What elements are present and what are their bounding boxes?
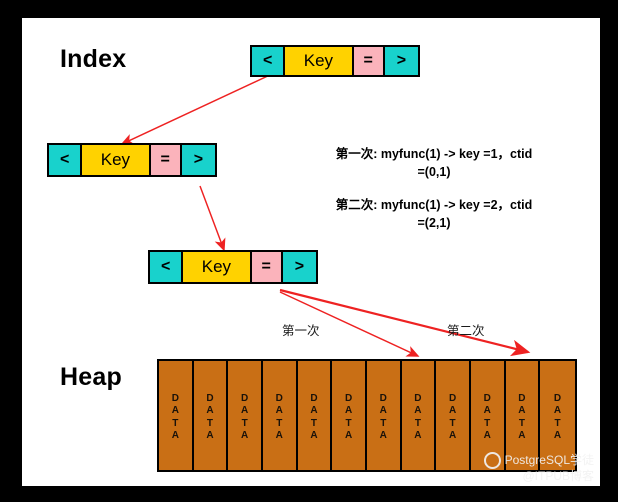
index-section-title: Index — [60, 45, 126, 74]
heap-cell-char: A — [310, 406, 317, 417]
pass-label-second: 第二次 — [447, 320, 485, 339]
heap-cell-char: A — [206, 406, 213, 417]
diagram-canvas: Index Heap < Key = > < Key = > < Key = >… — [22, 18, 600, 486]
heap-cell[interactable]: DATA — [436, 361, 471, 470]
heap-cell[interactable]: DATA — [367, 361, 402, 470]
watermark-line2: @ITPUB博客 — [484, 469, 594, 484]
heap-cell-char: D — [276, 394, 283, 405]
heap-section-title: Heap — [60, 363, 122, 392]
annotation-first-pass: 第一次: myfunc(1) -> key =1，ctid =(0,1) — [314, 145, 554, 181]
heap-cell-char: D — [380, 394, 387, 405]
heap-cell-char: T — [346, 419, 352, 430]
heap-cell-char: D — [345, 394, 352, 405]
watermark-line1: PostgreSQL学徒 — [505, 453, 594, 468]
root-node-cell-gt[interactable]: > — [385, 47, 418, 75]
leaf-node-cell-gt[interactable]: > — [283, 252, 316, 282]
annotation-second-pass: 第二次: myfunc(1) -> key =2，ctid =(2,1) — [314, 196, 554, 232]
heap-cell-char: T — [519, 419, 525, 430]
root-node-cell-eq[interactable]: = — [354, 47, 385, 75]
watermark-avatar-icon — [484, 452, 501, 469]
leaf-node-cell-key[interactable]: Key — [183, 252, 251, 282]
heap-cell-char: T — [276, 419, 282, 430]
heap-cell-char: A — [449, 431, 456, 442]
middle-node-cell-key[interactable]: Key — [82, 145, 150, 175]
heap-cell[interactable]: DATA — [228, 361, 263, 470]
middle-node-cell-gt[interactable]: > — [182, 145, 215, 175]
heap-cell-char: T — [172, 419, 178, 430]
heap-cell-char: A — [380, 431, 387, 442]
annotation-second-pass-line2: =(2,1) — [314, 214, 554, 232]
middle-node[interactable]: < Key = > — [47, 143, 217, 177]
heap-cell-char: A — [484, 431, 491, 442]
watermark: PostgreSQL学徒 @ITPUB博客 — [484, 452, 594, 484]
heap-cell-char: A — [276, 406, 283, 417]
heap-cell[interactable]: DATA — [194, 361, 229, 470]
heap-cell-char: A — [345, 431, 352, 442]
heap-cell-char: D — [206, 394, 213, 405]
heap-cell-char: T — [554, 419, 560, 430]
heap-cell-char: T — [380, 419, 386, 430]
middle-node-cell-eq[interactable]: = — [151, 145, 182, 175]
root-node-cell-lt[interactable]: < — [252, 47, 285, 75]
heap-cell-char: A — [276, 431, 283, 442]
heap-cell-char: T — [311, 419, 317, 430]
heap-cell-char: A — [172, 406, 179, 417]
annotation-first-pass-line2: =(0,1) — [314, 163, 554, 181]
heap-cell-char: T — [242, 419, 248, 430]
heap-cell-char: D — [241, 394, 248, 405]
heap-cell[interactable]: DATA — [402, 361, 437, 470]
heap-cell-char: A — [310, 431, 317, 442]
annotation-second-pass-line1: 第二次: myfunc(1) -> key =2，ctid — [314, 196, 554, 214]
heap-cell-char: T — [450, 419, 456, 430]
heap-cell-char: D — [484, 394, 491, 405]
screenshot-root: Index Heap < Key = > < Key = > < Key = >… — [0, 0, 618, 502]
heap-cell-char: A — [518, 431, 525, 442]
heap-cell-char: A — [241, 431, 248, 442]
root-node-cell-key[interactable]: Key — [285, 47, 353, 75]
heap-cell-char: D — [414, 394, 421, 405]
heap-cell-char: A — [449, 406, 456, 417]
heap-cell-char: A — [241, 406, 248, 417]
arrow-middle-to-leaf — [200, 186, 224, 250]
heap-cell-char: A — [345, 406, 352, 417]
heap-cell[interactable]: DATA — [332, 361, 367, 470]
heap-cell[interactable]: DATA — [159, 361, 194, 470]
pass-label-first: 第一次 — [282, 320, 320, 339]
heap-cell-char: A — [554, 406, 561, 417]
leaf-node-cell-lt[interactable]: < — [150, 252, 183, 282]
heap-cell-char: D — [310, 394, 317, 405]
heap-cell-char: A — [172, 431, 179, 442]
heap-cell-char: T — [415, 419, 421, 430]
heap-cell[interactable]: DATA — [298, 361, 333, 470]
heap-cell-char: A — [518, 406, 525, 417]
leaf-node-cell-eq[interactable]: = — [252, 252, 283, 282]
heap-cell[interactable]: DATA — [263, 361, 298, 470]
heap-cell-char: T — [484, 419, 490, 430]
heap-cell-char: A — [206, 431, 213, 442]
heap-cell-char: A — [484, 406, 491, 417]
heap-cell-char: A — [414, 431, 421, 442]
heap-cell-char: D — [518, 394, 525, 405]
arrow-root-to-middle — [122, 74, 272, 144]
middle-node-cell-lt[interactable]: < — [49, 145, 82, 175]
heap-cell-char: D — [172, 394, 179, 405]
heap-cell-char: A — [380, 406, 387, 417]
heap-cell-char: A — [554, 431, 561, 442]
heap-cell-char: D — [554, 394, 561, 405]
heap-cell-char: T — [207, 419, 213, 430]
heap-cell-char: D — [449, 394, 456, 405]
root-node[interactable]: < Key = > — [250, 45, 420, 77]
annotation-first-pass-line1: 第一次: myfunc(1) -> key =1，ctid — [314, 145, 554, 163]
leaf-node[interactable]: < Key = > — [148, 250, 318, 284]
heap-cell-char: A — [414, 406, 421, 417]
